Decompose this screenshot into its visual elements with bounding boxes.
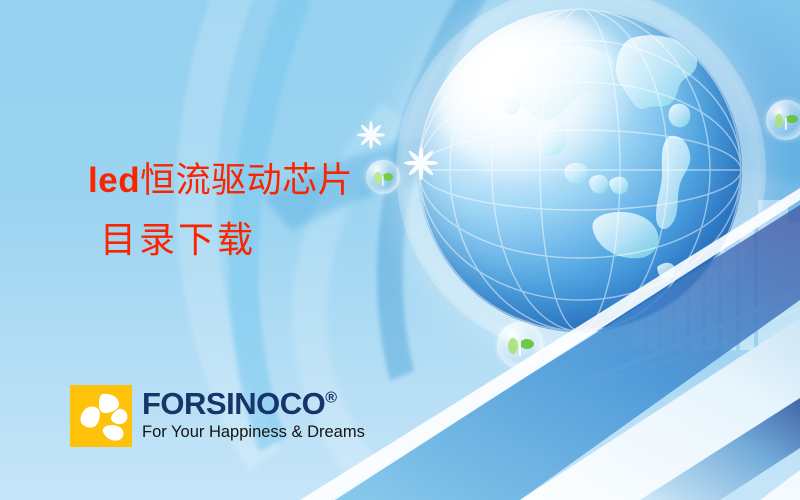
registered-trademark-icon: ® <box>325 390 337 407</box>
four-petal-flower-icon <box>70 385 132 447</box>
headline-line-1-cjk: 恒流驱动芯片 <box>140 161 353 201</box>
headline-line-1: led恒流驱动芯片 <box>88 163 353 199</box>
logo-wordmark: FORSINOCO® <box>142 388 365 419</box>
bubble-sprout-1-icon <box>366 160 400 194</box>
headline-block: led恒流驱动芯片 目录下载 <box>88 163 353 259</box>
bubble-sprout-2-icon <box>497 322 543 368</box>
poster-canvas: led恒流驱动芯片 目录下载 FORSINOCO® For Your Happi… <box>0 0 800 500</box>
earth-globe-icon <box>418 8 742 332</box>
bubble-sprout-3-icon <box>766 100 800 140</box>
logo-text-block: FORSINOCO® For Your Happiness & Dreams <box>142 385 365 441</box>
company-logo[interactable]: FORSINOCO® For Your Happiness & Dreams <box>70 385 365 447</box>
globe-gloss-highlight <box>437 14 638 182</box>
headline-line-2: 目录下载 <box>100 223 353 259</box>
headline-line-1-latin: led <box>88 161 140 200</box>
logo-wordmark-text: FORSINOCO <box>142 386 325 421</box>
logo-tagline: For Your Happiness & Dreams <box>142 424 365 441</box>
